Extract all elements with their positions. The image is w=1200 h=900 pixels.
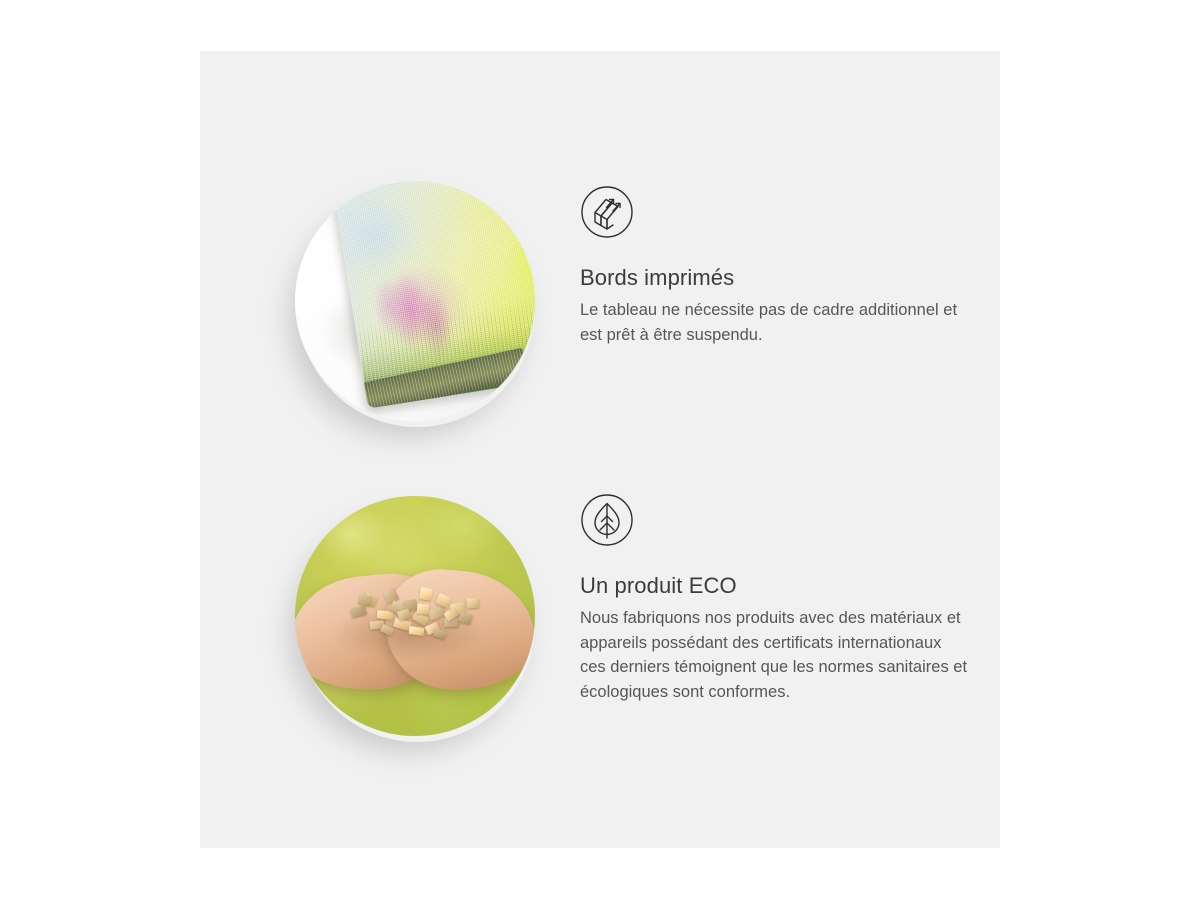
wood-chip <box>419 587 433 601</box>
wood-chip <box>358 594 372 607</box>
canvas-corner-photo <box>295 181 535 421</box>
wood-chip <box>350 605 367 617</box>
feature-copy-eco: Un produit ECO Nous fabriquons nos produ… <box>580 493 970 704</box>
wood-chip <box>444 618 459 627</box>
wood-chip <box>433 628 447 640</box>
wood-chip <box>417 604 430 615</box>
wood-chip <box>377 610 394 620</box>
feature-row-printed-edges: Bords imprimés Le tableau ne nécessite p… <box>200 181 1000 456</box>
feature-title: Bords imprimés <box>580 265 970 291</box>
circular-image-frame <box>295 496 535 736</box>
feature-description: Nous fabriquons nos produits avec des ma… <box>580 606 970 704</box>
feature-copy-printed-edges: Bords imprimés Le tableau ne nécessite p… <box>580 185 970 347</box>
feature-description: Le tableau ne nécessite pas de cadre add… <box>580 298 970 347</box>
product-info-page: Bords imprimés Le tableau ne nécessite p… <box>0 0 1200 900</box>
wood-chip <box>383 587 399 603</box>
canvas-wrapped-edges-icon <box>580 185 634 239</box>
wood-chip <box>458 611 473 625</box>
feature-title: Un produit ECO <box>580 573 970 599</box>
wood-chips-pile <box>348 582 487 654</box>
content-panel: Bords imprimés Le tableau ne nécessite p… <box>200 51 1000 848</box>
wood-chip <box>467 598 480 609</box>
wood-chip <box>409 626 425 636</box>
hands-wood-chips-photo <box>295 496 535 736</box>
circular-image-frame <box>295 181 535 421</box>
leaf-icon <box>580 493 634 547</box>
feature-row-eco: Un produit ECO Nous fabriquons nos produ… <box>200 451 1000 751</box>
